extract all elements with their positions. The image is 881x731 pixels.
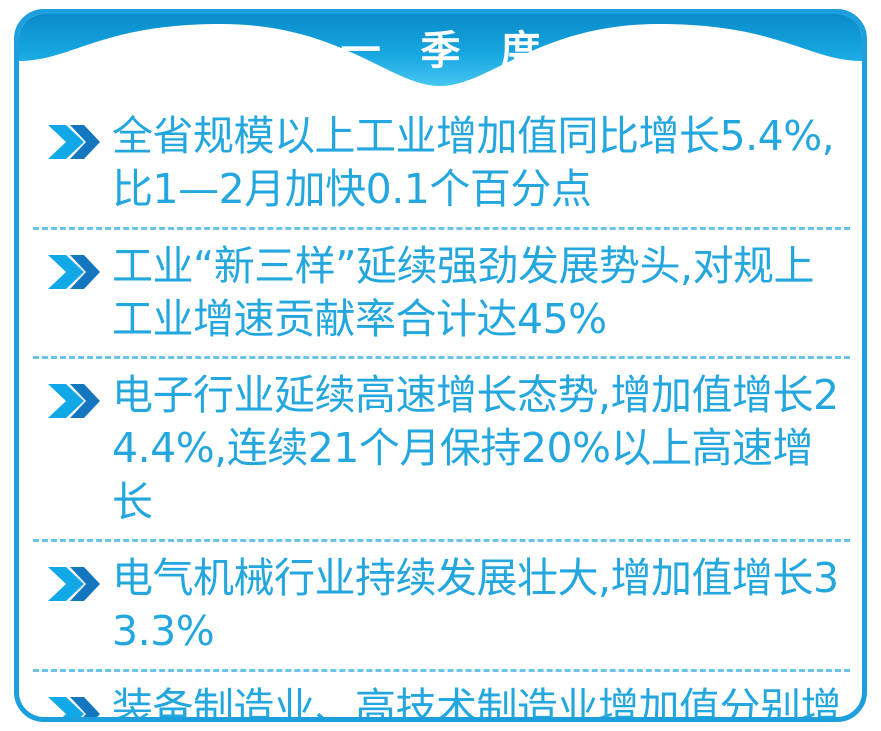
list-item-text: 工业“新三样”延续强劲发展势头,对规上工业增速贡献率合计达45% — [112, 240, 842, 347]
list-item[interactable]: 全省规模以上工业增加值同比增长5.4%,比1—2月加快0.1个百分点 — [19, 100, 862, 227]
header-banner: 一 季 度 — [19, 14, 862, 100]
double-chevron-right-icon — [46, 694, 102, 722]
list-item[interactable]: 电气机械行业持续发展壮大,增加值增长33.3% — [19, 542, 862, 669]
double-chevron-right-icon — [46, 252, 102, 292]
list-item[interactable]: 电子行业延续高速增长态势,增加值增长24.4%,连续21个月保持20%以上高速增… — [19, 359, 862, 539]
list-item-text: 电子行业延续高速增长态势,增加值增长24.4%,连续21个月保持20%以上高速增… — [112, 369, 842, 529]
list-item-text: 全省规模以上工业增加值同比增长5.4%,比1—2月加快0.1个百分点 — [112, 110, 842, 217]
infographic-card: 一 季 度 全省规模以上工业增加值同比增长5.4%,比1—2月加快0.1个百分点… — [14, 9, 867, 722]
list-item-text: 电气机械行业持续发展壮大,增加值增长33.3% — [112, 552, 842, 659]
list-item-text: 装备制造业、高技术制造业增加值分别增长21.7%、20.1% — [112, 682, 842, 722]
list-item[interactable]: 装备制造业、高技术制造业增加值分别增长21.7%、20.1% — [19, 672, 862, 722]
bullet-list: 全省规模以上工业增加值同比增长5.4%,比1—2月加快0.1个百分点 工业“新三… — [19, 100, 862, 722]
double-chevron-right-icon — [46, 381, 102, 421]
double-chevron-right-icon — [46, 122, 102, 162]
list-item[interactable]: 工业“新三样”延续强劲发展势头,对规上工业增速贡献率合计达45% — [19, 230, 862, 357]
double-chevron-right-icon — [46, 564, 102, 604]
page-title: 一 季 度 — [19, 14, 862, 88]
